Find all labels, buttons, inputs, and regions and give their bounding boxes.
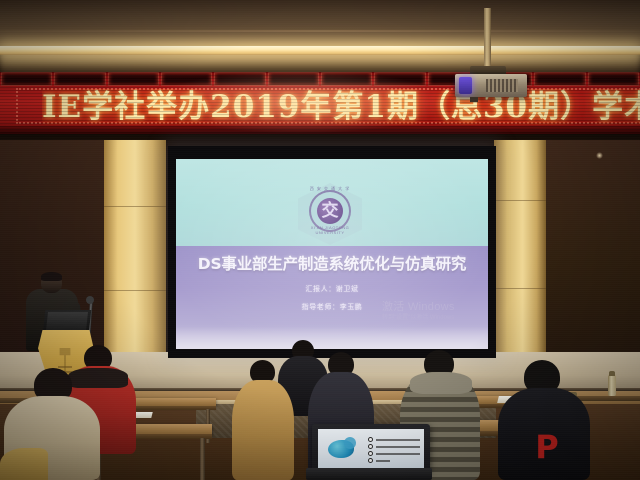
lecture-hall-photo: IE学社举办2019年第1期（总30期）学术交流会 西 安 交 通 大 学 交 … <box>0 0 640 480</box>
microphone-icon <box>86 296 94 304</box>
desk-leg <box>200 438 205 480</box>
slide-presenter-line: 汇报人：谢卫斌 <box>176 285 488 294</box>
bullet-dot-icon <box>368 444 373 449</box>
bullet-dot-icon <box>368 437 373 442</box>
led-banner-bottom-strip <box>0 126 640 134</box>
projector-foot <box>470 97 478 102</box>
audience-laptop-screen <box>318 429 424 468</box>
wall-spotlight <box>596 152 603 159</box>
projector-lens-icon <box>459 77 472 94</box>
projector-mount-pole <box>484 8 491 70</box>
bullet-dot-icon <box>368 458 373 463</box>
emblem-sub-text: XI'AN JIAOTONG UNIVERSITY <box>304 225 356 235</box>
led-banner-top-cells <box>0 72 640 86</box>
thermos-bottle-cap <box>609 371 615 376</box>
thermos-bottle <box>608 374 616 396</box>
laptop-slide-bullets <box>368 436 420 464</box>
list-item <box>368 443 420 450</box>
bullet-dot-icon <box>368 451 373 456</box>
list-item <box>368 436 420 443</box>
slide-bottom-fade <box>176 327 488 349</box>
led-banner: IE学社举办2019年第1期（总30期）学术交流会 <box>0 72 640 134</box>
ceiling <box>0 0 640 46</box>
university-emblem-glyph: 交 <box>317 198 343 224</box>
podium-laptop-screen <box>46 312 88 331</box>
projector-vent <box>486 79 518 92</box>
led-banner-text: IE学社举办2019年第1期（总30期）学术交流会 <box>42 89 640 125</box>
audience-laptop-base <box>306 468 432 480</box>
watermark-line-2: 转到"设置"以激活 Windows <box>382 314 478 322</box>
jacket-logo-P: P <box>534 430 560 464</box>
slide-title: DS事业部生产制造系统优化与仿真研究 <box>180 255 484 273</box>
presenter-hair <box>41 272 62 281</box>
windows-activation-watermark: 激活 Windows 转到"设置"以激活 Windows <box>382 301 478 322</box>
ceiling-seam <box>0 30 640 32</box>
projection-screen: 西 安 交 通 大 学 交 XI'AN JIAOTONG UNIVERSITY … <box>176 159 488 349</box>
watermark-line-1: 激活 Windows <box>382 301 478 314</box>
laptop-slide-graphic-accent <box>344 437 356 449</box>
list-item <box>368 457 420 464</box>
list-item <box>368 450 420 457</box>
